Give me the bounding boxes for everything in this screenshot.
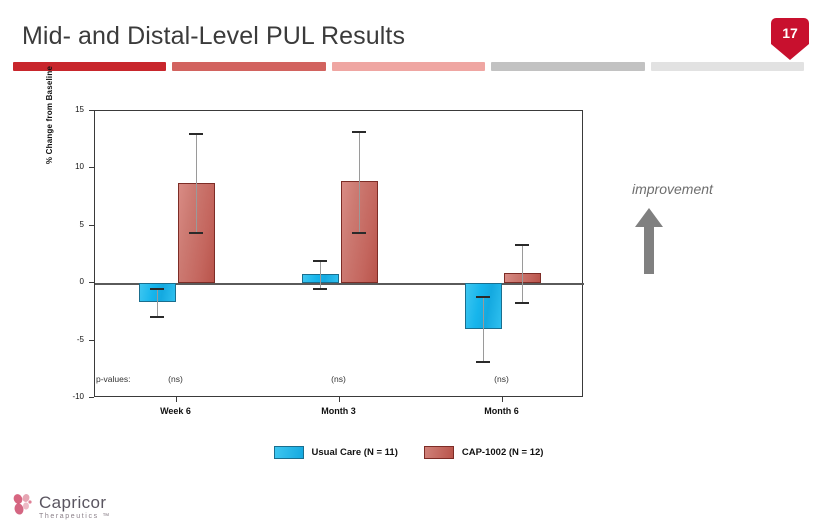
x-tick-mark (502, 397, 503, 402)
legend-item-usual-care: Usual Care (N = 11) (274, 446, 398, 459)
y-tick-mark (89, 340, 94, 341)
p-values-label: p-values: (96, 374, 131, 384)
error-bar-cap-lower (189, 232, 203, 234)
y-tick-label: -5 (58, 335, 84, 344)
legend-swatch-usual-care (274, 446, 304, 459)
y-tick-mark (89, 167, 94, 168)
p-value-annotation: (ns) (472, 374, 532, 384)
x-tick-mark (176, 397, 177, 402)
y-tick-label: 10 (58, 162, 84, 171)
error-bar-cap-lower (313, 288, 327, 290)
logo-subtitle: Therapeutics ™ (39, 513, 111, 520)
logo-name: Capricor (39, 494, 111, 511)
legend-item-cap-1002: CAP-1002 (N = 12) (424, 446, 544, 459)
error-bar-cap-lower (150, 316, 164, 318)
error-bar-cap-upper (476, 296, 490, 298)
y-tick-mark (89, 110, 94, 111)
p-value-annotation: (ns) (309, 374, 369, 384)
y-tick-label: 15 (58, 105, 84, 114)
y-tick-label: 5 (58, 220, 84, 229)
legend-label-usual-care: Usual Care (N = 11) (312, 447, 398, 458)
y-tick-mark (89, 282, 94, 283)
x-tick-mark (339, 397, 340, 402)
y-tick-mark (89, 225, 94, 226)
capricor-logo-mark-icon (10, 492, 36, 522)
error-bar-line (483, 296, 484, 361)
improvement-arrow-icon (634, 208, 664, 274)
error-bar-cap-upper (150, 288, 164, 290)
chart-legend: Usual Care (N = 11) CAP-1002 (N = 12) (0, 446, 817, 459)
error-bar-line (359, 131, 360, 232)
x-axis-label: Week 6 (131, 406, 221, 416)
y-tick-label: 0 (58, 277, 84, 286)
error-bar-cap-upper (352, 131, 366, 133)
plot-area (94, 110, 583, 397)
y-tick-mark (89, 397, 94, 398)
error-bar-cap-upper (189, 133, 203, 135)
error-bar-cap-upper (515, 244, 529, 246)
capricor-logo: Capricor Therapeutics ™ (10, 492, 111, 522)
legend-swatch-cap-1002 (424, 446, 454, 459)
p-value-annotation: (ns) (146, 374, 206, 384)
error-bar-line (320, 260, 321, 288)
error-bar-line (522, 244, 523, 301)
error-bar-line (196, 133, 197, 232)
x-axis-label: Month 3 (294, 406, 384, 416)
y-tick-label: -10 (58, 392, 84, 401)
y-axis-title: % Change from Baseline (45, 45, 54, 185)
legend-label-cap-1002: CAP-1002 (N = 12) (462, 447, 544, 458)
error-bar-cap-lower (515, 302, 529, 304)
improvement-label: improvement (632, 181, 713, 197)
error-bar-cap-upper (313, 260, 327, 262)
error-bar-line (157, 288, 158, 317)
error-bar-cap-lower (352, 232, 366, 234)
error-bar-cap-lower (476, 361, 490, 363)
x-axis-label: Month 6 (457, 406, 547, 416)
